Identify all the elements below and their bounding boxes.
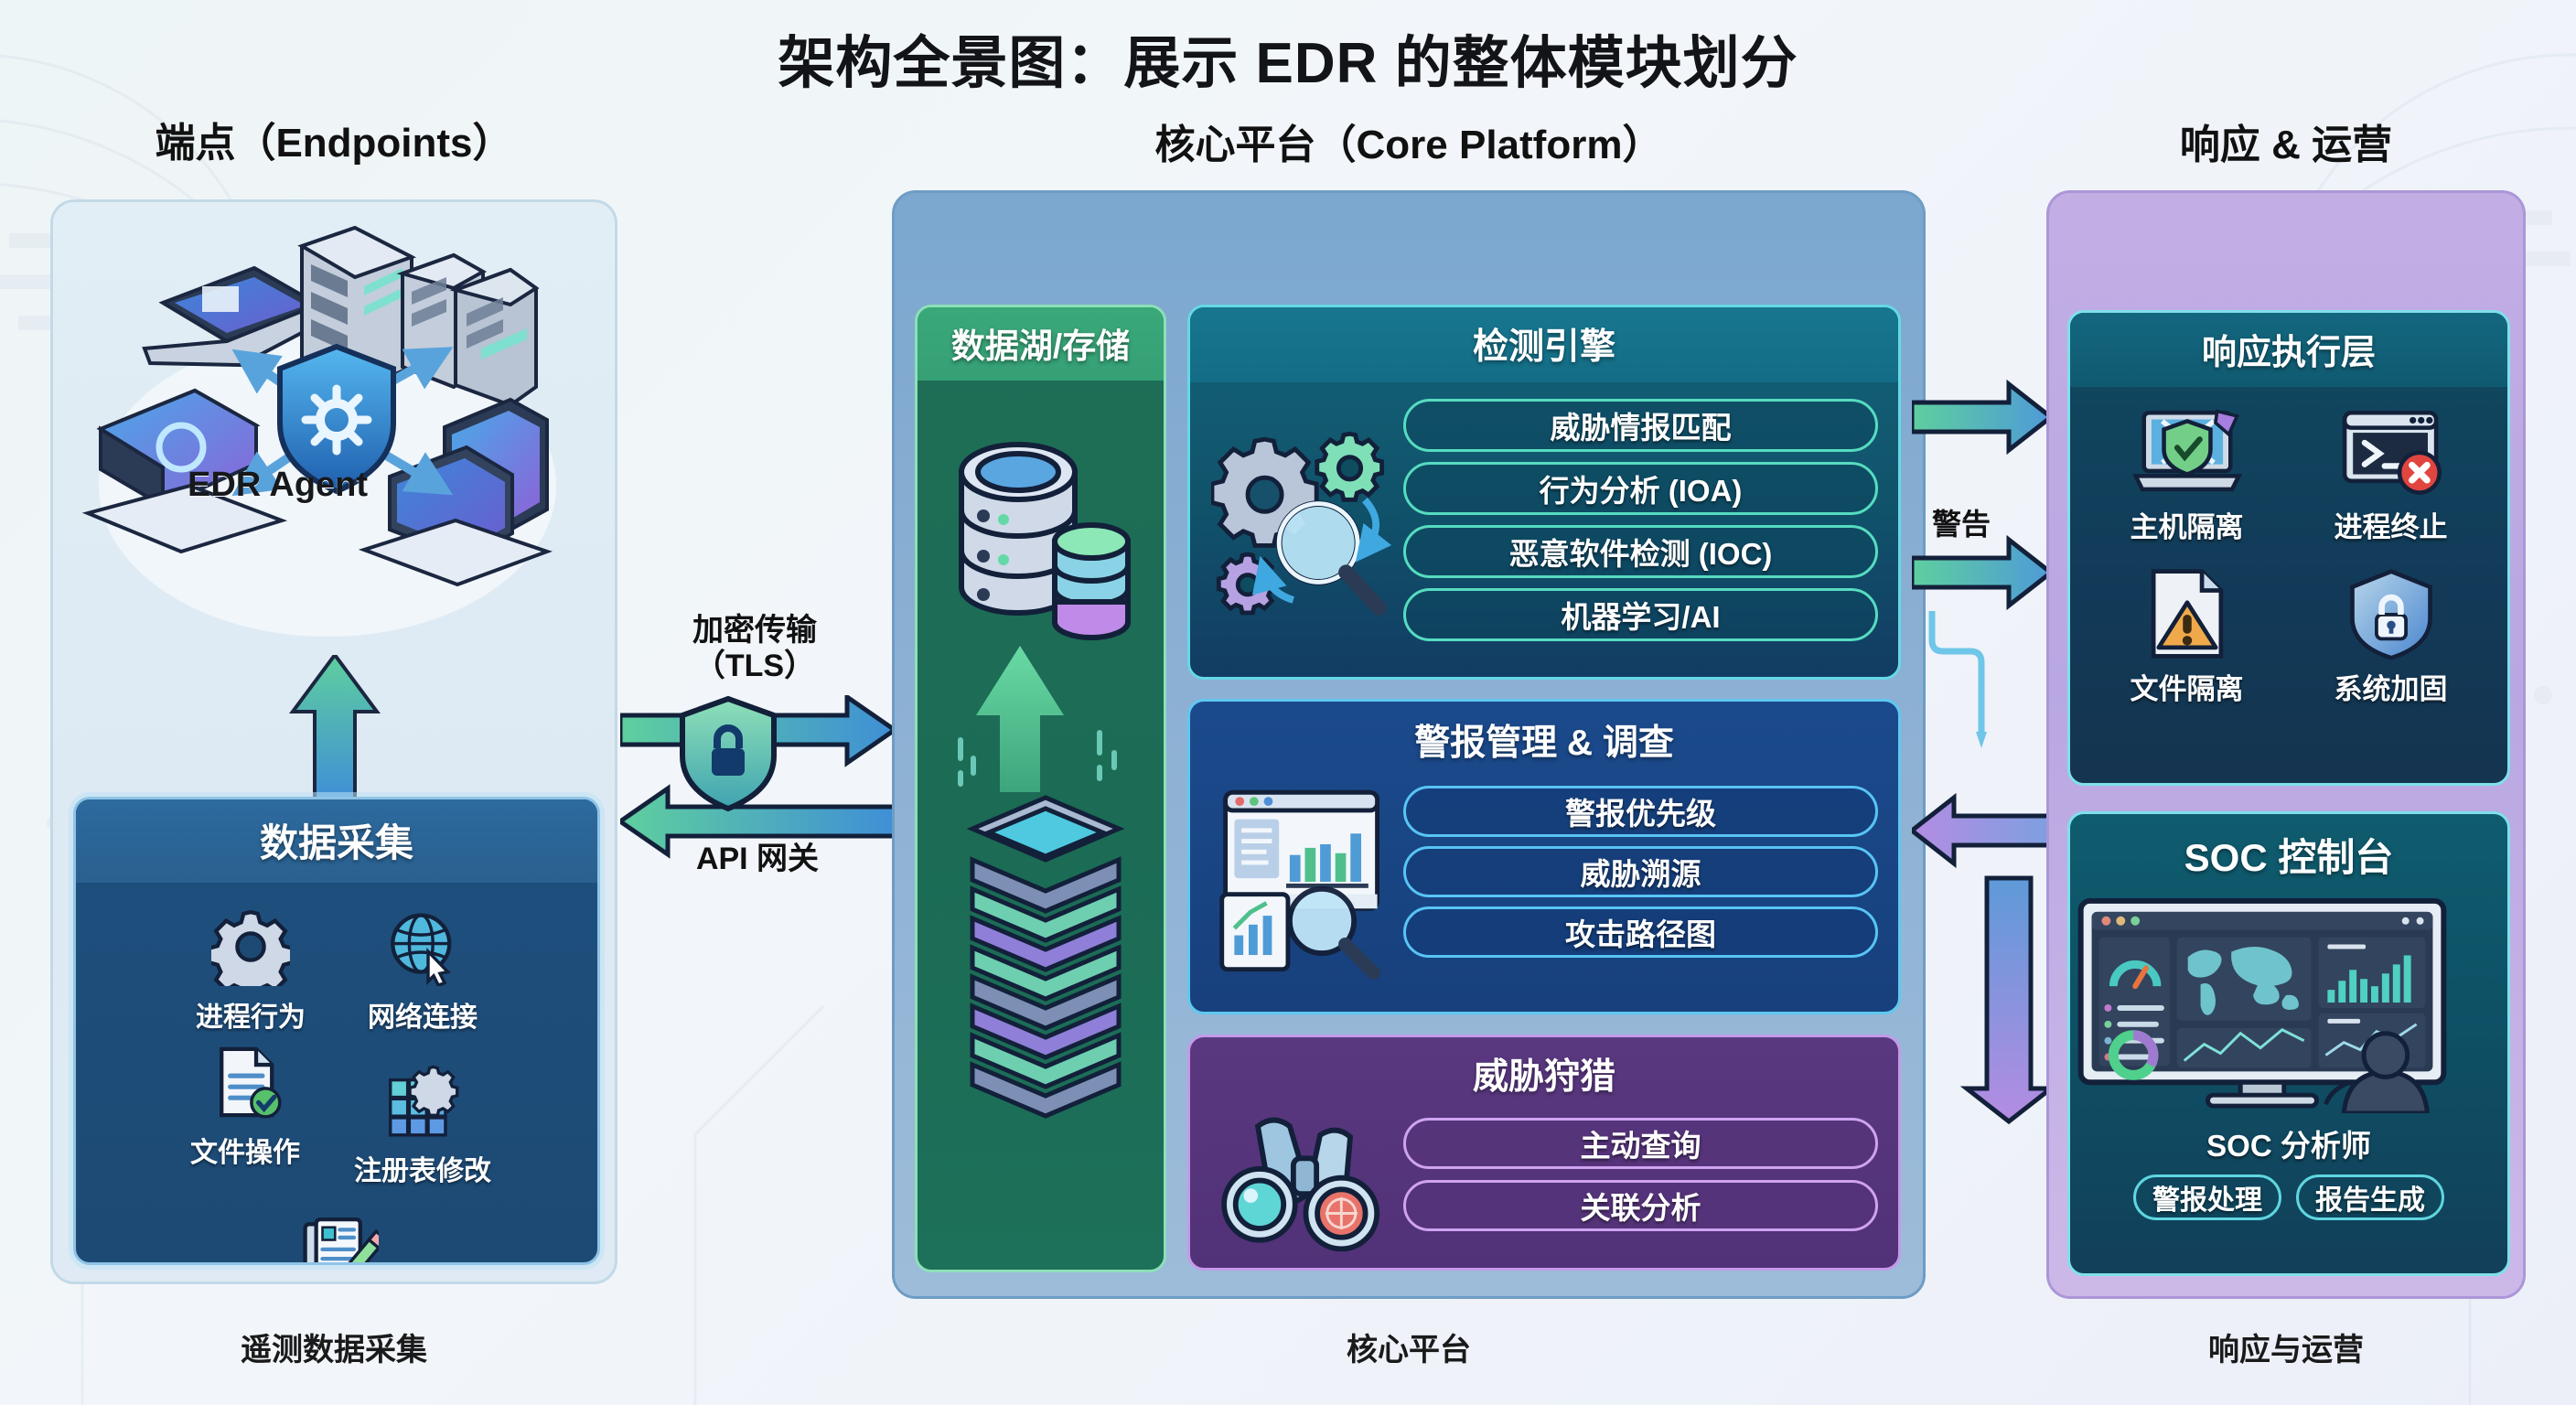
column-head-endpoints: 端点（Endpoints） xyxy=(50,110,617,168)
alert-pill-priority[interactable]: 警报优先级 xyxy=(1403,786,1878,837)
response-execution-grid: 主机隔离 进程终止 xyxy=(2070,387,2507,714)
data-collection-icon-grid: 进程行为 网络连接 xyxy=(76,883,597,1265)
detection-pill-malware-ioc[interactable]: 恶意软件检测 (IOC) xyxy=(1403,525,1878,578)
soc-pill-alert-handling[interactable]: 警报处理 xyxy=(2133,1174,2281,1220)
binoculars-icon xyxy=(1207,1105,1403,1260)
data-lake-card: 数据湖/存储 xyxy=(915,305,1166,1272)
alert-pill-attack-path[interactable]: 攻击路径图 xyxy=(1403,906,1878,958)
endpoint-devices-illustration xyxy=(53,211,620,641)
gears-magnifier-icon xyxy=(1207,395,1403,651)
shield-lock-icon xyxy=(2289,563,2493,664)
caption-core-platform: 核心平台 xyxy=(892,1325,1926,1369)
soc-console-card: SOC 控制台 xyxy=(2067,811,2510,1276)
soc-dashboard-icon xyxy=(2070,896,2454,1113)
collect-label: 文件操作 xyxy=(164,1130,327,1170)
detection-engine-title: 检测引擎 xyxy=(1190,307,1898,382)
alert-pill-traceback[interactable]: 威胁溯源 xyxy=(1403,846,1878,897)
response-item-system-hardening[interactable]: 系统加固 xyxy=(2289,563,2493,707)
column-head-core-platform: 核心平台（Core Platform） xyxy=(892,112,1926,170)
soc-analyst-label: SOC 分析师 xyxy=(2070,1121,2507,1165)
data-collection-card: 数据采集 进程行为 xyxy=(73,797,600,1265)
database-stack-icon xyxy=(918,371,1166,1249)
gear-icon xyxy=(169,903,332,991)
laptop-shield-isolate-icon xyxy=(2085,402,2289,502)
alert-management-card: 警报管理 & 调查 xyxy=(1187,699,1901,1014)
shield-lock-icon xyxy=(682,699,774,809)
detection-pill-ml-ai[interactable]: 机器学习/AI xyxy=(1403,588,1878,641)
collect-item-system-log[interactable]: 系统日志 xyxy=(250,1210,424,1265)
response-operations-panel: 响应执行层 主机隔离 xyxy=(2046,190,2526,1299)
response-item-file-quarantine[interactable]: 文件隔离 xyxy=(2085,563,2289,707)
document-pencil-icon xyxy=(250,1210,424,1265)
collect-label: 网络连接 xyxy=(341,994,504,1035)
data-lake-title: 数据湖/存储 xyxy=(918,307,1164,381)
collect-item-network-connection[interactable]: 网络连接 xyxy=(341,903,504,1035)
collect-label: 进程行为 xyxy=(169,994,332,1035)
registry-grid-gear-icon xyxy=(336,1056,510,1144)
file-check-icon xyxy=(164,1038,327,1126)
soc-pill-report-generation[interactable]: 报告生成 xyxy=(2296,1174,2444,1220)
collect-label: 注册表修改 xyxy=(336,1148,510,1188)
response-item-process-kill[interactable]: 进程终止 xyxy=(2289,402,2493,545)
endpoints-panel: EDR Agent 数据采集 进程行为 xyxy=(50,199,617,1284)
data-collection-title: 数据采集 xyxy=(76,799,597,883)
hunting-pill-correlation[interactable]: 关联分析 xyxy=(1403,1180,1878,1231)
api-gateway-label: API 网关 xyxy=(620,842,895,877)
hunting-pill-active-query[interactable]: 主动查询 xyxy=(1403,1118,1878,1169)
edr-agent-label: EDR Agent xyxy=(188,466,368,505)
soc-console-title: SOC 控制台 xyxy=(2070,814,2507,886)
alert-pill-list: 警报优先级 威胁溯源 攻击路径图 xyxy=(1403,777,1878,985)
terminal-x-icon xyxy=(2289,402,2493,502)
caption-telemetry: 遥测数据采集 xyxy=(50,1325,617,1369)
collect-item-process-behavior[interactable]: 进程行为 xyxy=(169,903,332,1035)
globe-cursor-icon xyxy=(341,903,504,991)
file-warning-icon xyxy=(2085,563,2289,664)
response-item-host-isolation[interactable]: 主机隔离 xyxy=(2085,402,2289,545)
response-label: 主机隔离 xyxy=(2085,504,2289,545)
detection-pill-list: 威胁情报匹配 行为分析 (IOA) 恶意软件检测 (IOC) 机器学习/AI xyxy=(1403,395,1878,651)
response-execution-title: 响应执行层 xyxy=(2070,313,2507,387)
hunting-pill-list: 主动查询 关联分析 xyxy=(1403,1105,1878,1260)
threat-hunting-title: 威胁狩猎 xyxy=(1190,1037,1898,1103)
telemetry-up-arrow xyxy=(282,655,392,801)
response-label: 系统加固 xyxy=(2289,666,2493,707)
detection-engine-card: 检测引擎 xyxy=(1187,305,1901,680)
detection-pill-behavior-ioa[interactable]: 行为分析 (IOA) xyxy=(1403,462,1878,515)
alert-management-title: 警报管理 & 调查 xyxy=(1190,702,1898,771)
threat-hunting-card: 威胁狩猎 xyxy=(1187,1035,1901,1271)
alert-arrow-label: 警告 xyxy=(1932,501,1991,543)
response-label: 文件隔离 xyxy=(2085,666,2289,707)
dashboard-magnifier-icon xyxy=(1207,777,1403,985)
collect-item-file-operation[interactable]: 文件操作 xyxy=(164,1038,327,1188)
core-platform-panel: 数据湖/存储 xyxy=(892,190,1926,1299)
column-head-response: 响应 & 运营 xyxy=(2046,112,2526,170)
soc-pill-list: 警报处理 报告生成 xyxy=(2070,1174,2507,1220)
response-label: 进程终止 xyxy=(2289,504,2493,545)
page-title: 架构全景图：展示 EDR 的整体模块划分 xyxy=(0,16,2576,99)
response-execution-card: 响应执行层 主机隔离 xyxy=(2067,310,2510,786)
collect-item-registry-change[interactable]: 注册表修改 xyxy=(336,1056,510,1188)
encrypted-transport-label: 加密传输 （TLS） xyxy=(622,613,887,684)
detection-pill-threat-intel[interactable]: 威胁情报匹配 xyxy=(1403,399,1878,452)
caption-response: 响应与运营 xyxy=(2046,1325,2526,1369)
